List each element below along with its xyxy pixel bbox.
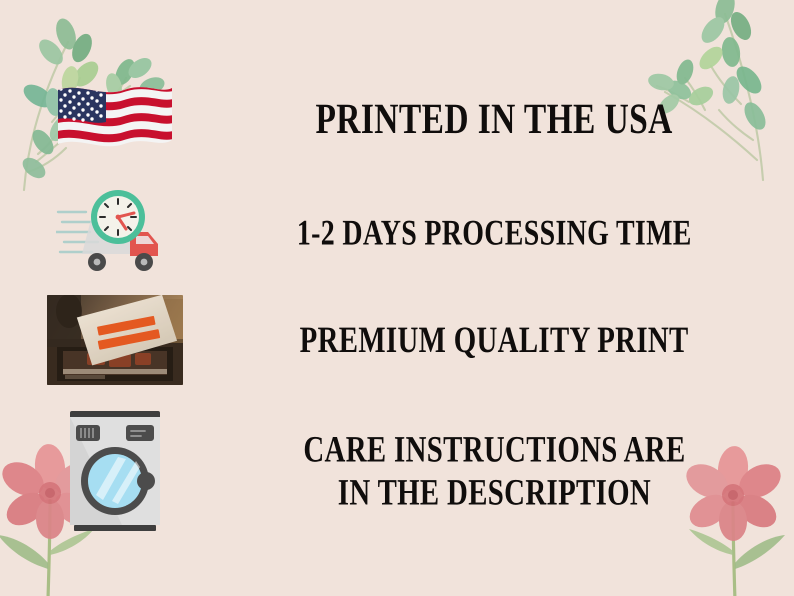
washing-machine-icon (60, 405, 170, 537)
headline-care-instructions: CARE INSTRUCTIONS ARE IN THE DESCRIPTION (303, 427, 685, 513)
feature-row-care-instructions: CARE INSTRUCTIONS ARE IN THE DESCRIPTION (0, 398, 794, 543)
washer-display-icon (126, 425, 154, 441)
text-cell-quality: PREMIUM QUALITY PRINT (230, 322, 794, 358)
feature-row-premium-quality: PREMIUM QUALITY PRINT (0, 292, 794, 388)
screen-printing-photo (47, 295, 183, 385)
washer-door-handle-icon (137, 472, 155, 490)
text-cell-usa: PRINTED IN THE USA (230, 99, 794, 141)
icon-cell-usa (0, 78, 230, 162)
text-cell-care: CARE INSTRUCTIONS ARE IN THE DESCRIPTION (230, 435, 794, 507)
text-cell-shipping: 1-2 DAYS PROCESSING TIME (230, 217, 794, 252)
usa-flag-icon (54, 78, 176, 162)
icon-cell-washer (0, 405, 230, 537)
infographic-canvas: PRINTED IN THE USA (0, 0, 794, 596)
fast-delivery-clock-truck-icon (56, 184, 174, 284)
icon-cell-shipping (0, 184, 230, 284)
washer-dial-icon (76, 425, 100, 441)
headline-premium-quality: PREMIUM QUALITY PRINT (299, 318, 688, 361)
headline-processing-time: 1-2 DAYS PROCESSING TIME (297, 213, 692, 255)
feature-row-printed-in-usa: PRINTED IN THE USA (0, 74, 794, 166)
clock-icon (91, 190, 145, 244)
feature-row-processing-time: 1-2 DAYS PROCESSING TIME (0, 183, 794, 285)
icon-cell-print (0, 295, 230, 385)
headline-printed-in-usa: PRINTED IN THE USA (315, 95, 672, 145)
